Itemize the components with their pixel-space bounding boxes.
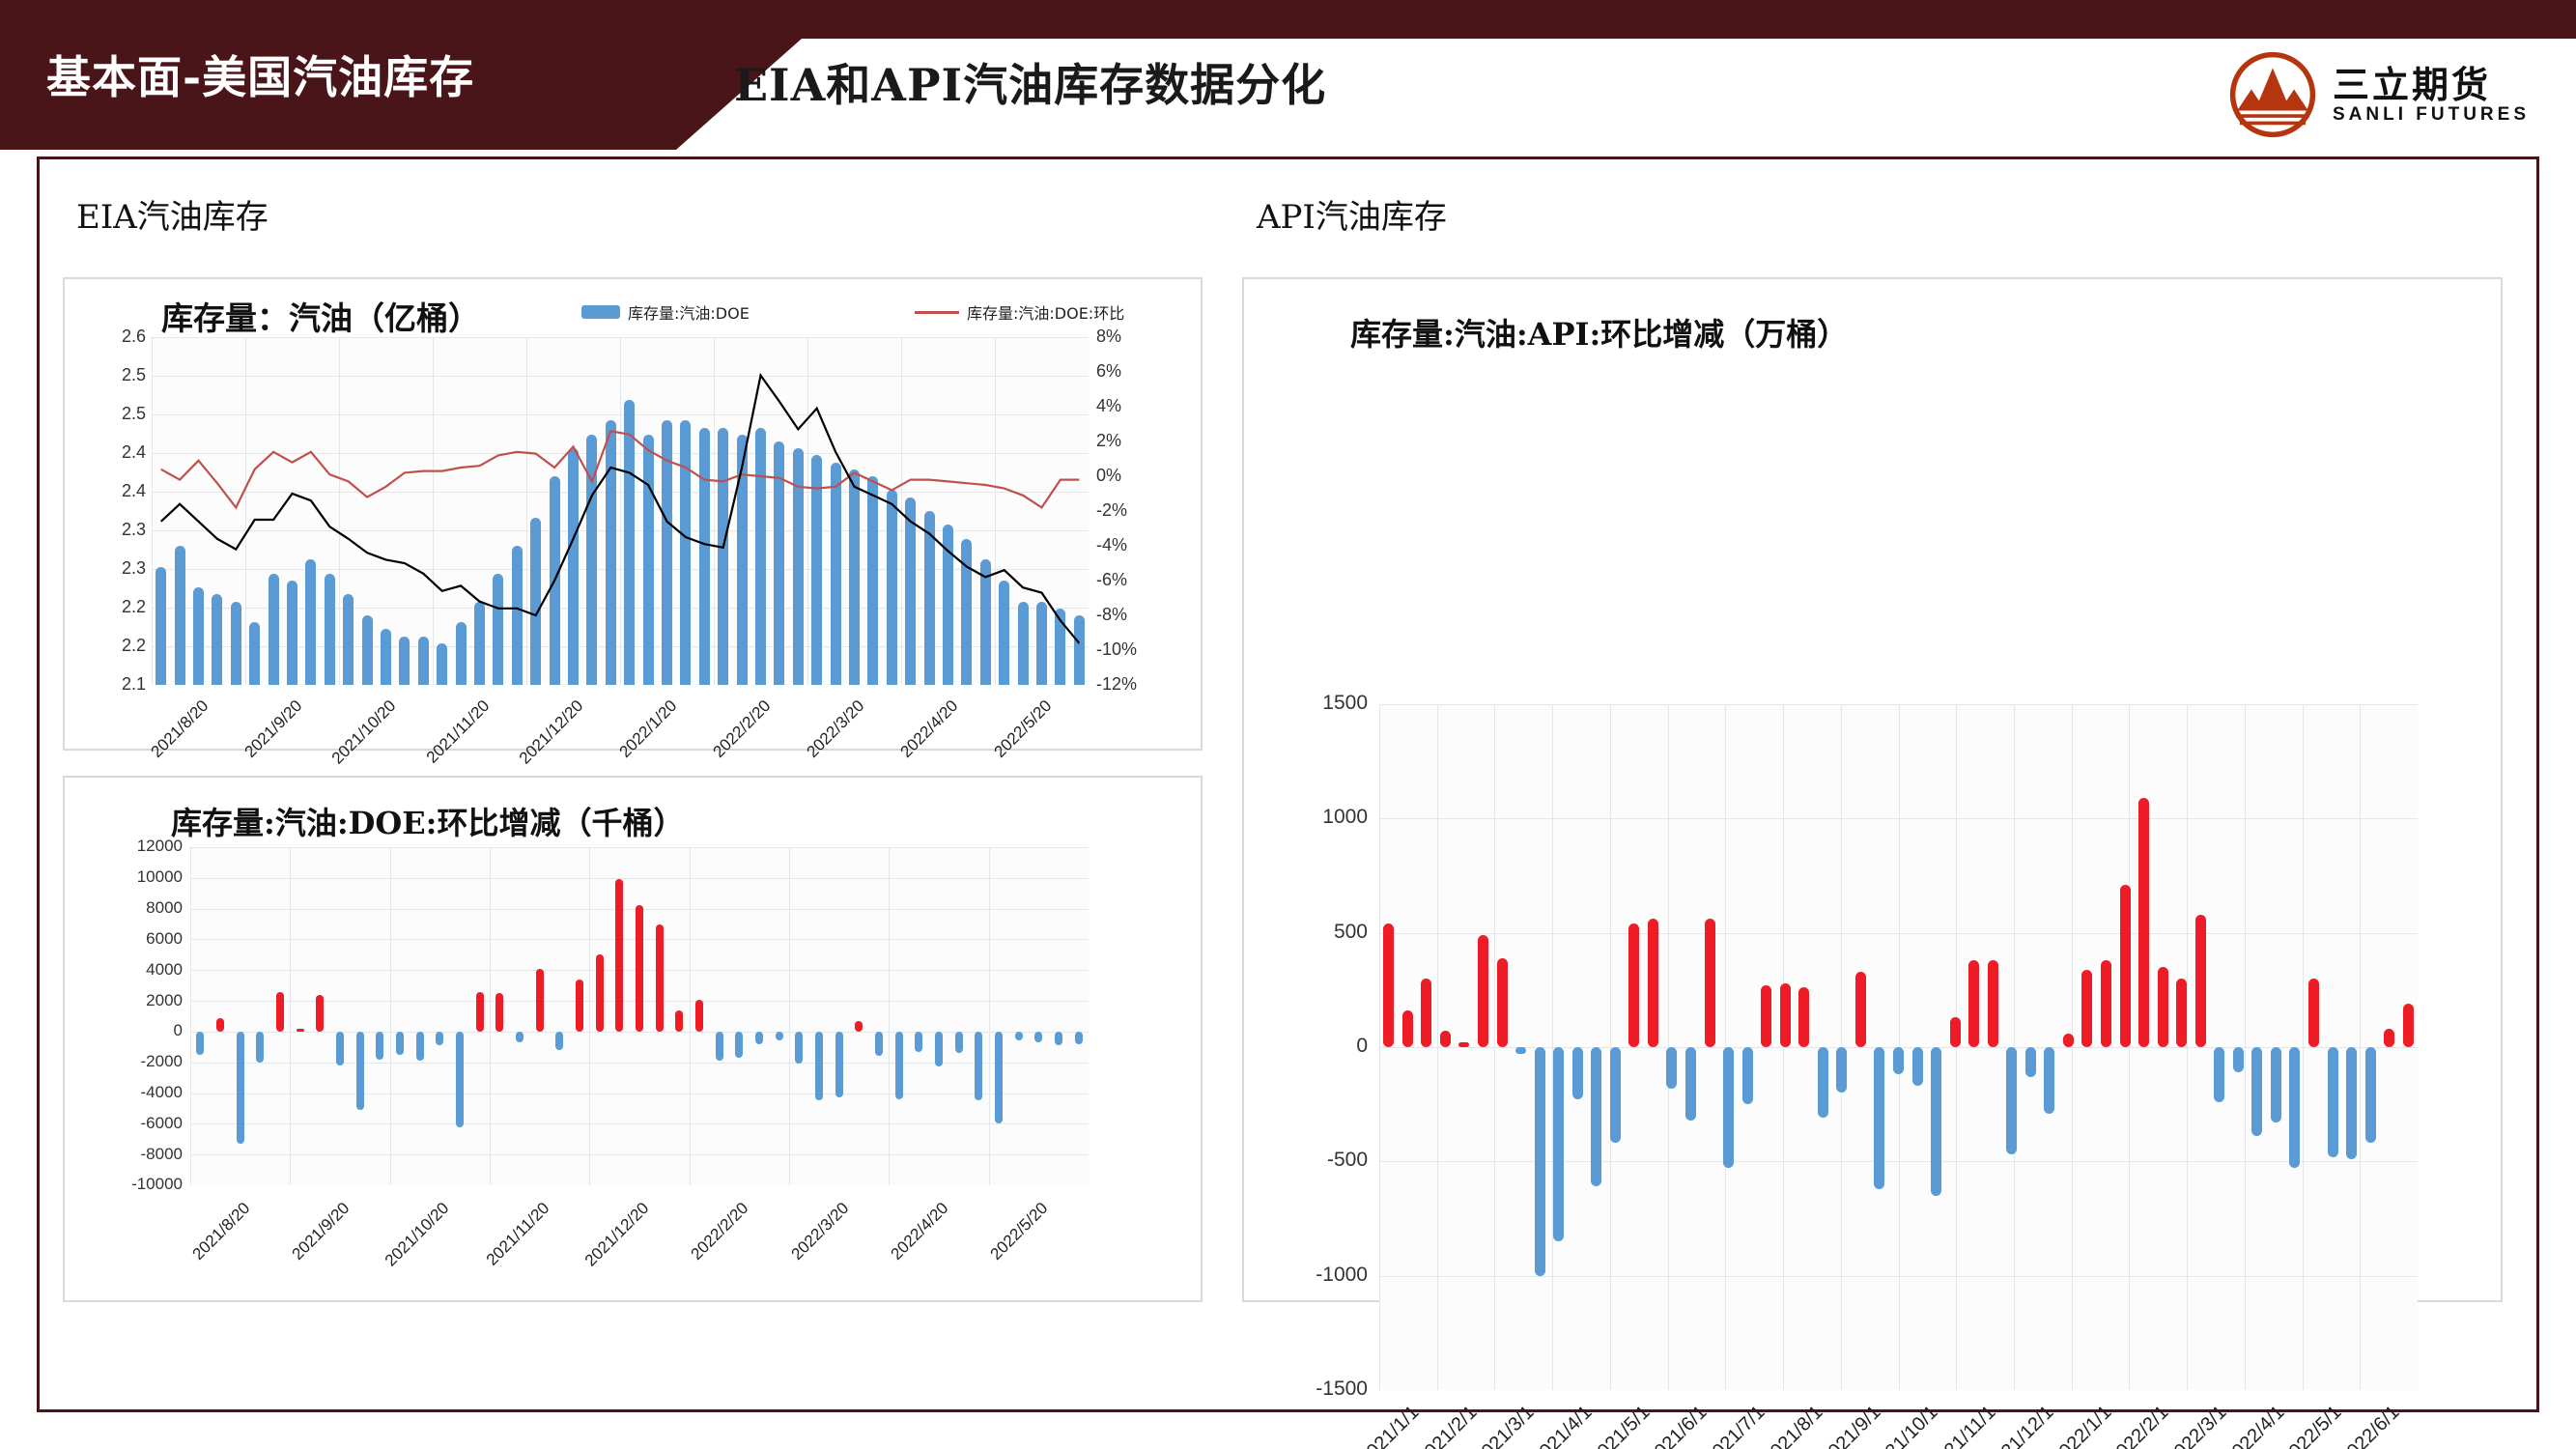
chart3-x-axis: 2021/1/12021/2/12021/3/12021/4/12021/5/1… [1244,279,2501,1300]
panel-eia-inventory: 库存量：汽油（亿桶） 库存量:汽油:DOE 库存量:汽油:DOE:环比 库存量:… [63,277,1203,751]
logo-name-cn: 三立期货 [2333,67,2530,103]
chart2-x-axis: 2021/8/202021/9/202021/10/202021/11/2020… [65,778,1201,1300]
y-axis-tick-label: -1500 [1244,1378,1368,1401]
content-frame: EIA汽油库存 API汽油库存 库存量：汽油（亿桶） 库存量:汽油:DOE 库存… [37,156,2539,1412]
header-section-tag: 基本面-美国汽油库存 [46,43,474,106]
logo-name-en: SANLI FUTURES [2333,105,2530,124]
panel-doe-change: 库存量:汽油:DOE:环比增减（千桶） 12000100008000600040… [63,776,1203,1302]
page-title: EIA和API汽油库存数据分化 [734,50,1326,114]
chart1-x-axis: 2021/8/202021/9/202021/10/202021/11/2020… [65,279,1201,749]
brand-logo: 三立期货 SANLI FUTURES [2228,50,2530,139]
panel-api-change: 库存量:汽油:API:环比增减（万桶） 150010005000-500-100… [1242,277,2503,1302]
slide-root: 基本面-美国汽油库存 EIA和API汽油库存数据分化 三立期货 SANLI FU… [0,0,2576,1449]
mountain-logo-icon [2228,50,2317,139]
x-axis-tick-label: 2021/8/20 [90,1199,254,1363]
x-axis-tick-label: 2021/1/1 [1258,1402,1424,1449]
section-label-eia: EIA汽油库存 [76,190,269,238]
section-label-api: API汽油库存 [1257,190,1447,238]
